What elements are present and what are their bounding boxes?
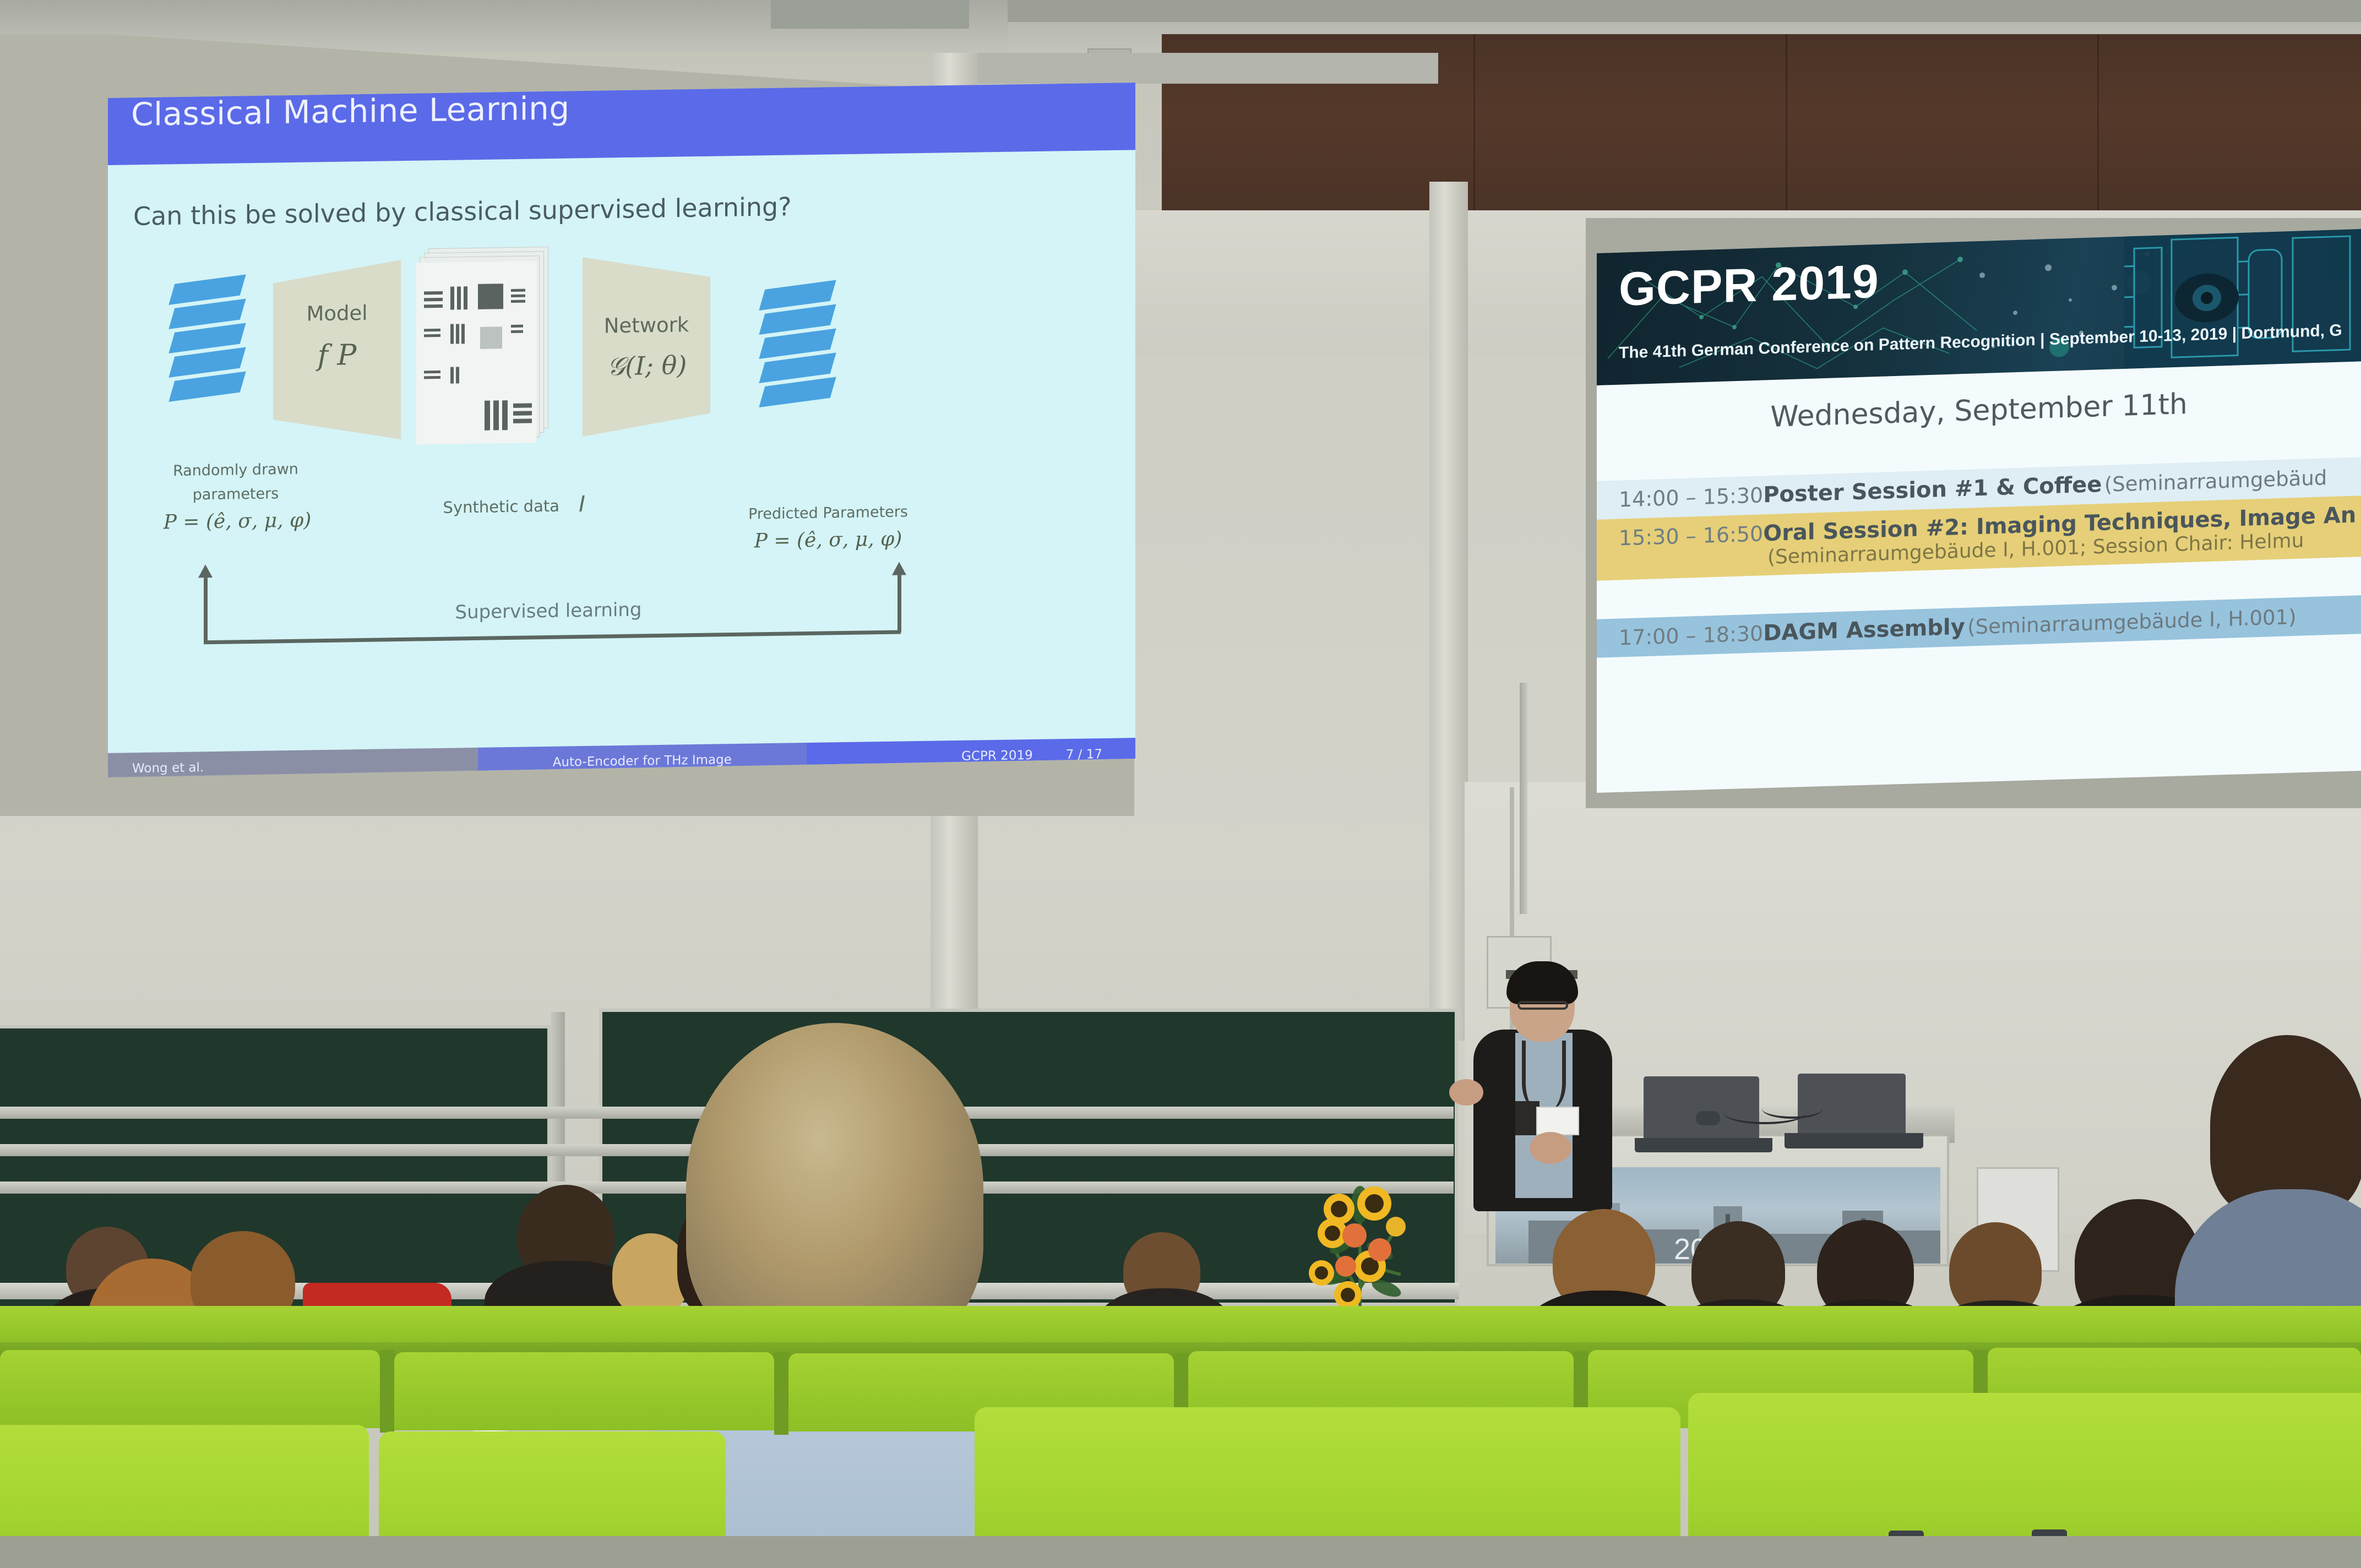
session-location: (Seminarraumgebäude I, H.001)	[1967, 605, 2296, 639]
synthetic-data-image-stack	[416, 247, 565, 453]
audience-head-foreground-center	[686, 1023, 983, 1353]
wall-rail	[1520, 683, 1527, 914]
seat-row-back[interactable]	[0, 1306, 2361, 1344]
session-title: Poster Session #1 & Coffee	[1763, 472, 2102, 508]
gcpr-title: GCPR 2019	[1619, 254, 1879, 317]
pillar-center	[1429, 182, 1468, 1041]
session-time: 14:00 – 15:30	[1619, 483, 1763, 511]
cable	[1762, 1099, 1823, 1119]
left-caption-line2: parameters	[148, 484, 324, 504]
model-label: Model	[273, 301, 401, 326]
schedule-table: 14:00 – 15:30Poster Session #1 & Coffee …	[1597, 457, 2361, 658]
floor	[0, 1536, 2361, 1568]
chip-photo	[2124, 229, 2361, 369]
projection-screen-left: Classical Machine Learning Can this be s…	[108, 83, 1135, 777]
session-time: 15:30 – 16:50	[1619, 521, 1763, 550]
lanyard	[1522, 1041, 1566, 1111]
arrow-head-right-icon	[892, 562, 906, 575]
schedule-day-heading: Wednesday, September 11th	[1597, 382, 2361, 439]
sunflower-icon	[1277, 1156, 1443, 1321]
network-block	[583, 255, 710, 437]
network-label: Network	[583, 313, 710, 338]
arrow-stem-left	[204, 578, 208, 643]
parameter-stack-right-icon	[763, 284, 835, 412]
gcpr-banner: GCPR 2019 The 41th German Conference on …	[1597, 229, 2361, 385]
session-title: DAGM Assembly	[1763, 614, 1965, 646]
speaker-hand-left	[1449, 1079, 1483, 1106]
parameter-stack-left-icon	[173, 279, 244, 406]
ceiling-beam	[986, 0, 2361, 22]
session-location: (Seminarraumgebäud	[2104, 466, 2327, 497]
synthetic-data-symbol: I	[568, 492, 596, 518]
synthetic-data-caption: Synthetic data	[378, 497, 559, 518]
soffit	[978, 53, 1438, 84]
arrow-stem-right	[897, 575, 901, 632]
session-time: 17:00 – 18:30	[1619, 621, 1763, 650]
left-parameter-formula: P = (ê, σ, μ, φ)	[141, 509, 334, 534]
right-parameter-formula: P = (ê, σ, μ, φ)	[712, 527, 944, 553]
arrow-head-left-icon	[198, 564, 213, 578]
sunflower-bouquet	[1277, 1156, 1443, 1321]
glasses-icon	[1517, 1001, 1568, 1010]
footer-authors: Wong et al.	[132, 760, 204, 776]
ceiling-recess	[771, 0, 969, 29]
conference-badge	[1536, 1107, 1579, 1135]
supervised-learning-label: Supervised learning	[372, 597, 725, 624]
projection-screen-right: GCPR 2019 The 41th German Conference on …	[1597, 229, 2361, 793]
left-caption-line1: Randomly drawn	[148, 460, 324, 480]
right-caption: Predicted Parameters	[712, 503, 944, 523]
network-formula: 𝒢(I; θ)	[579, 350, 715, 383]
supervised-learning-arrow-line	[204, 630, 901, 644]
lecture-hall-photo: Classical Machine Learning Can this be s…	[0, 0, 2361, 1568]
speaker-hand-right	[1530, 1132, 1571, 1164]
mouse[interactable]	[1696, 1111, 1720, 1125]
model-formula: f P	[273, 338, 401, 373]
slide-diagram: Model f P	[108, 246, 1135, 723]
slide-question: Can this be solved by classical supervis…	[133, 188, 1014, 231]
